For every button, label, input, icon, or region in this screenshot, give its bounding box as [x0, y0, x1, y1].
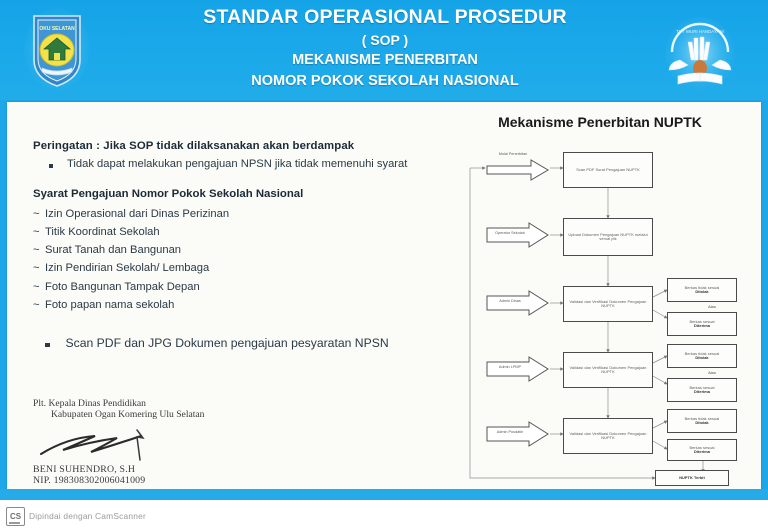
- title-line-2: ( SOP ): [150, 32, 620, 49]
- flow-outcome-accepted-1: Berkas sesuai Diterima: [667, 312, 737, 336]
- camscanner-watermark-text: Dipindai dengan CamScanner: [29, 511, 146, 521]
- flow-actor-label-admin-dinas: Admin Dinas: [489, 299, 531, 303]
- signatory-nip: NIP. 198308302006041009: [33, 475, 333, 486]
- flow-outcome-or-1: Atau: [682, 305, 742, 309]
- flow-process-box-upload-dokumen: Upload Dokumen Pengajuan NUPTK melalui v…: [563, 218, 653, 256]
- tilde-marker-icon: ~: [33, 205, 45, 223]
- signatory-title-line-2: Kabupaten Ogan Komering Ulu Selatan: [51, 409, 333, 420]
- warning-heading: Peringatan : Jika SOP tidak dilaksanakan…: [33, 140, 433, 152]
- square-bullet-icon: [49, 164, 53, 168]
- flow-outcome-rejected-3: Berkas tidak sesuai Ditolak: [667, 409, 737, 433]
- document-sheet: Peringatan : Jika SOP tidak dilaksanakan…: [7, 102, 761, 494]
- flow-process-box-validasi-lpmp: Validasi dan Verifikasi Dokumen Pengajua…: [563, 352, 653, 388]
- list-item: ~ Surat Tanah dan Bangunan: [33, 241, 433, 259]
- list-item: ~ Izin Operasional dari Dinas Perizinan: [33, 205, 433, 223]
- tilde-marker-icon: ~: [33, 223, 45, 241]
- flow-process-label-validasi-dinas: Validasi dan Verifikasi Dokumen Pengajua…: [566, 300, 650, 309]
- camscanner-footer: CS Dipindai dengan CamScanner: [0, 500, 768, 530]
- flow-actor-label-admin-lpmp: Admin LPMP: [489, 365, 531, 369]
- flow-process-box-scan-pdf: Scan PDF Surat Pengajuan NUPTK: [563, 152, 653, 188]
- svg-text:OKU SELATAN: OKU SELATAN: [39, 26, 75, 32]
- scan-bullet-item: Scan PDF dan JPG Dokumen pengajuan pesya…: [33, 336, 433, 350]
- flow-outcome-accept-value-3: Diterima: [689, 450, 714, 454]
- flow-outcome-accepted-2: Berkas sesuai Diterima: [667, 378, 737, 402]
- list-item-label: Foto papan nama sekolah: [45, 296, 174, 314]
- handwritten-signature: [33, 420, 333, 464]
- requirements-list: ~ Izin Operasional dari Dinas Perizinan …: [33, 205, 433, 314]
- scan-bullet-text: Scan PDF dan JPG Dokumen pengajuan pesya…: [66, 336, 389, 350]
- flow-process-label-validasi-pusdatin: Validasi dan Verifikasi Dokumen Pengajua…: [566, 432, 650, 441]
- svg-text:TUT WURI HANDAYANI: TUT WURI HANDAYANI: [676, 29, 724, 34]
- flow-actor-arrow-admin-dinas: Admin Dinas: [485, 290, 551, 316]
- list-item: ~ Titik Koordinat Sekolah: [33, 223, 433, 241]
- page-title: STANDAR OPERASIONAL PROSEDUR ( SOP ) MEK…: [150, 6, 620, 90]
- left-text-column: Peringatan : Jika SOP tidak dilaksanakan…: [33, 140, 433, 350]
- header-banner: OKU SELATAN STANDAR OPERASIONAL PROSEDUR…: [0, 0, 768, 100]
- title-line-3: MEKANISME PENERBITAN: [150, 52, 620, 70]
- flow-actor-label-operator: Operator Sekolah: [489, 231, 531, 235]
- flow-process-label-scan-pdf: Scan PDF Surat Pengajuan NUPTK: [576, 168, 640, 172]
- flow-actor-label-start-top: Mulai Penerbitan: [491, 152, 535, 156]
- flow-process-box-validasi-dinas: Validasi dan Verifikasi Dokumen Pengajua…: [563, 286, 653, 322]
- tilde-marker-icon: ~: [33, 259, 45, 277]
- flow-actor-arrow-admin-lpmp: Admin LPMP: [485, 356, 551, 382]
- signature-block: Plt. Kepala Dinas Pendidikan Kabupaten O…: [33, 398, 333, 486]
- flow-outcome-accept-value-2: Diterima: [689, 390, 714, 394]
- list-item-label: Titik Koordinat Sekolah: [45, 223, 160, 241]
- warning-bullet-text: Tidak dapat melakukan pengajuan NPSN jik…: [67, 158, 407, 170]
- tilde-marker-icon: ~: [33, 278, 45, 296]
- flow-final-label: NUPTK Terbit: [679, 476, 705, 480]
- title-line-4: NOMOR POKOK SEKOLAH NASIONAL: [150, 73, 620, 91]
- flow-actor-arrow-admin-pusdatin: Admin Pusdatin: [485, 421, 551, 447]
- warning-bullet-item: Tidak dapat melakukan pengajuan NPSN jik…: [33, 158, 433, 170]
- flow-outcome-reject-value-3: Ditolak: [685, 421, 720, 425]
- list-item: ~ Foto papan nama sekolah: [33, 296, 433, 314]
- tut-wuri-handayani-emblem: TUT WURI HANDAYANI: [664, 16, 736, 92]
- flow-actor-label-admin-pusdatin: Admin Pusdatin: [489, 430, 531, 434]
- list-item: ~ Foto Bangunan Tampak Depan: [33, 278, 433, 296]
- kabupaten-oku-selatan-shield-emblem: OKU SELATAN: [24, 8, 90, 90]
- flowchart-title: Mekanisme Penerbitan NUPTK: [445, 114, 755, 130]
- flow-process-label-upload-dokumen: Upload Dokumen Pengajuan NUPTK melalui v…: [566, 233, 650, 242]
- square-bullet-icon: [45, 343, 50, 348]
- flow-outcome-or-2: Atau: [682, 371, 742, 375]
- flow-process-box-validasi-pusdatin: Validasi dan Verifikasi Dokumen Pengajua…: [563, 418, 653, 454]
- document-page: OKU SELATAN STANDAR OPERASIONAL PROSEDUR…: [0, 0, 768, 530]
- list-item-label: Foto Bangunan Tampak Depan: [45, 278, 200, 296]
- flowchart-panel: Mekanisme Penerbitan NUPTK: [445, 110, 755, 490]
- camscanner-badge-icon: CS: [6, 507, 25, 526]
- flow-actor-arrow-start: Mulai Penerbitan: [485, 152, 551, 184]
- flow-final-box-nuptk-terbit: NUPTK Terbit: [655, 470, 729, 486]
- list-item-label: Surat Tanah dan Bangunan: [45, 241, 181, 259]
- flow-outcome-rejected-1: Berkas tidak sesuai Ditolak: [667, 278, 737, 302]
- signatory-name: BENI SUHENDRO, S.H: [33, 464, 333, 475]
- flow-outcome-accept-value-1: Diterima: [689, 324, 714, 328]
- flow-outcome-reject-value-2: Ditolak: [685, 356, 720, 360]
- flow-outcome-reject-value-1: Ditolak: [685, 290, 720, 294]
- tilde-marker-icon: ~: [33, 241, 45, 259]
- flow-outcome-accepted-3: Berkas sesuai Diterima: [667, 439, 737, 461]
- list-item-label: Izin Operasional dari Dinas Perizinan: [45, 205, 229, 223]
- title-line-1: STANDAR OPERASIONAL PROSEDUR: [150, 6, 620, 30]
- flow-outcome-rejected-2: Berkas tidak sesuai Ditolak: [667, 344, 737, 368]
- flow-process-label-validasi-lpmp: Validasi dan Verifikasi Dokumen Pengajua…: [566, 366, 650, 375]
- flow-actor-arrow-operator: Operator Sekolah: [485, 222, 551, 248]
- requirements-heading: Syarat Pengajuan Nomor Pokok Sekolah Nas…: [33, 188, 433, 200]
- flowchart-canvas: Mulai Penerbitan Operator Sekolah Admin …: [445, 140, 755, 488]
- tilde-marker-icon: ~: [33, 296, 45, 314]
- signatory-title-line-1: Plt. Kepala Dinas Pendidikan: [33, 398, 333, 409]
- list-item: ~ Izin Pendirian Sekolah/ Lembaga: [33, 259, 433, 277]
- list-item-label: Izin Pendirian Sekolah/ Lembaga: [45, 259, 209, 277]
